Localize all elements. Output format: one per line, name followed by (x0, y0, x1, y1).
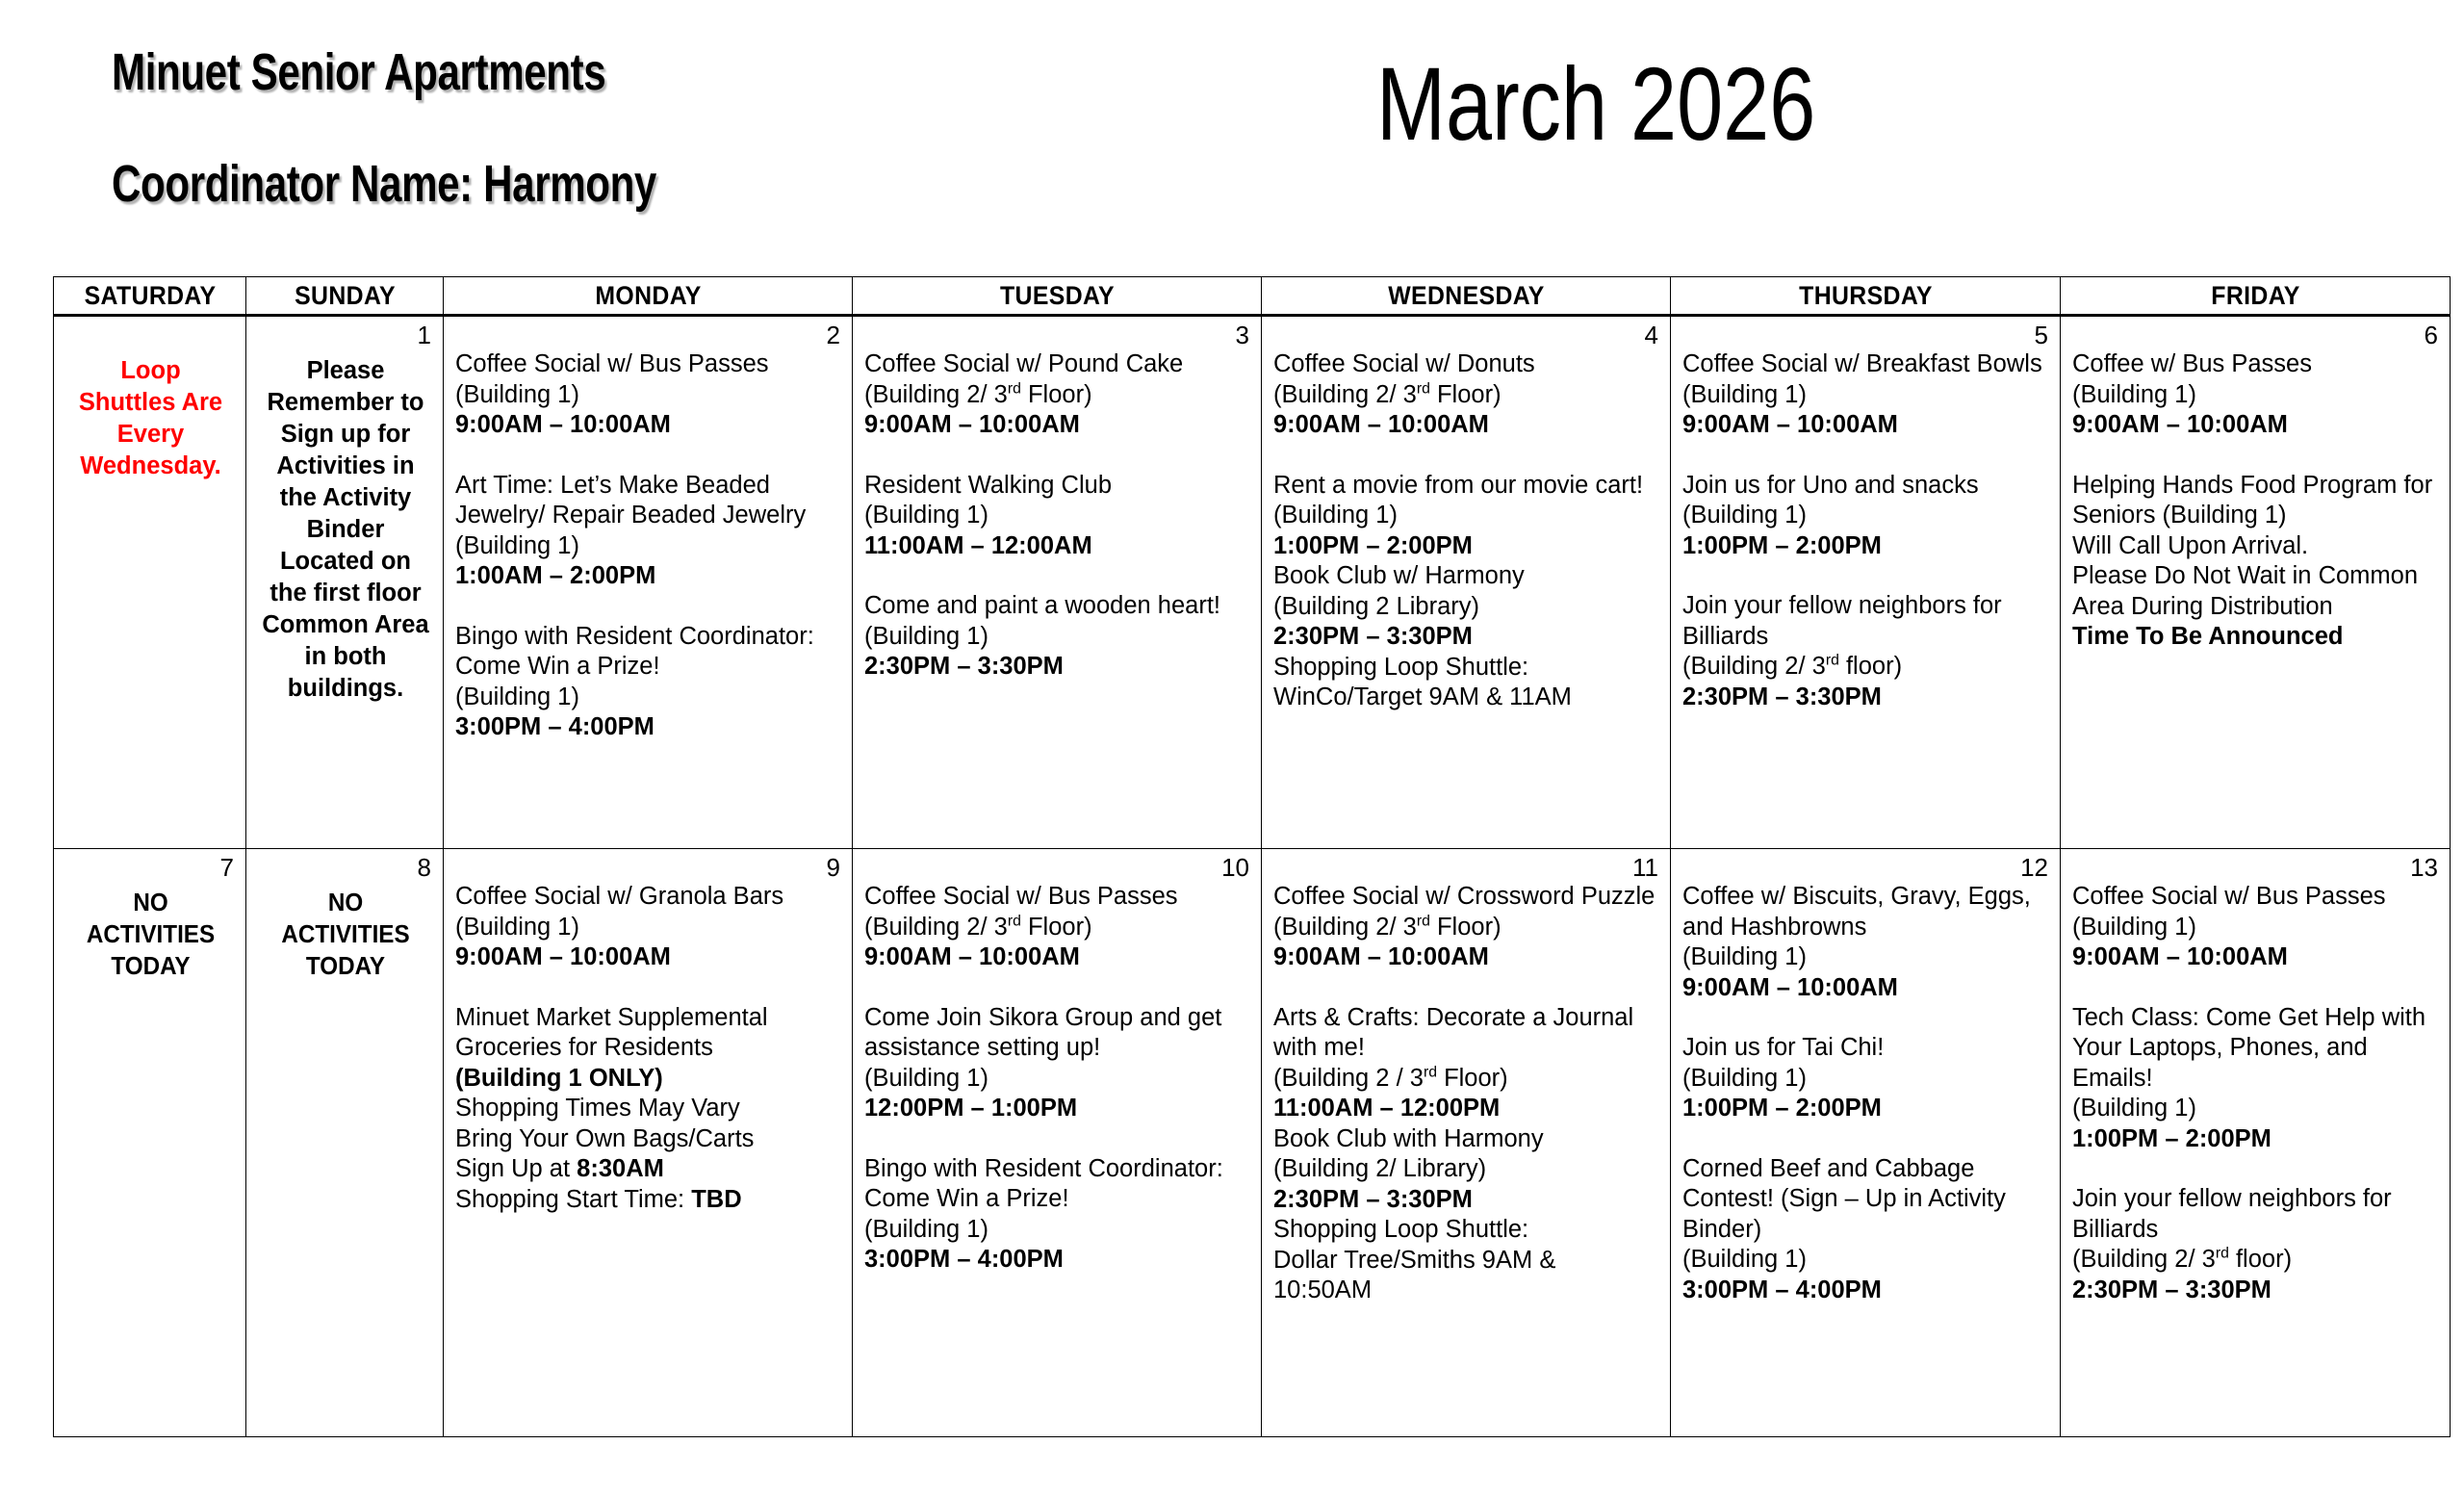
day-cell-content: 8NO ACTIVITIES TODAY (246, 849, 443, 991)
event-text: (Building 1) (2072, 380, 2440, 411)
day-cell[interactable]: 5Coffee Social w/ Breakfast Bowls(Buildi… (1671, 316, 2061, 849)
event-entry[interactable]: Coffee Social w/ Crossword Puzzle(Buildi… (1273, 882, 1660, 973)
event-time: Time To Be Announced (2072, 622, 2440, 653)
column-header-friday: FRIDAY (2076, 277, 2435, 316)
day-number: 3 (864, 321, 1251, 349)
event-entry[interactable]: Resident Walking Club(Building 1)11:00AM… (864, 471, 1251, 562)
event-text: (Building 1) (864, 622, 1251, 653)
event-text: (Building 2/ 3rd Floor) (864, 913, 1251, 943)
event-time: 11:00AM – 12:00PM (1273, 1094, 1660, 1124)
event-text: Coffee Social w/ Bus Passes (864, 882, 1251, 913)
day-cell[interactable]: 2Coffee Social w/ Bus Passes(Building 1)… (444, 316, 853, 849)
day-number: 13 (2072, 853, 2440, 882)
day-number: 5 (1682, 321, 2050, 349)
heading-block: Minuet Senior Apartments Coordinator Nam… (112, 42, 1170, 214)
event-text: Join us for Tai Chi! (1682, 1033, 2050, 1064)
event-time: 3:00PM – 4:00PM (455, 712, 842, 743)
event-entry[interactable]: Bingo with Resident Coordinator: Come Wi… (864, 1154, 1251, 1276)
event-text: (Building 2/ 3rd Floor) (1273, 380, 1660, 411)
events-list: Coffee Social w/ Bus Passes(Building 1)9… (455, 349, 842, 743)
event-text: Join your fellow neighbors for Billiards (2072, 1184, 2440, 1245)
event-text: (Building 1) (455, 531, 842, 562)
event-entry[interactable]: Corned Beef and Cabbage Contest! (Sign –… (1682, 1154, 2050, 1306)
event-text: (Building 1) (455, 380, 842, 411)
column-header-thursday: THURSDAY (1686, 277, 2045, 316)
event-text: Minuet Market Supplemental Groceries for… (455, 1003, 842, 1064)
event-time: 1:00PM – 2:00PM (1682, 1094, 2050, 1124)
event-time: 9:00AM – 10:00AM (1682, 973, 2050, 1004)
event-text: Shopping Loop Shuttle: (1273, 1215, 1660, 1246)
events-list: Coffee Social w/ Crossword Puzzle(Buildi… (1273, 882, 1660, 1306)
event-entry[interactable]: Coffee w/ Bus Passes(Building 1)9:00AM –… (2072, 349, 2440, 441)
day-cell[interactable]: 3Coffee Social w/ Pound Cake(Building 2/… (853, 316, 1262, 849)
day-number: 12 (1682, 853, 2050, 882)
event-text: Bingo with Resident Coordinator: Come Wi… (455, 622, 842, 683)
event-entry[interactable]: Bingo with Resident Coordinator: Come Wi… (455, 622, 842, 743)
event-time: 9:00AM – 10:00AM (1682, 410, 2050, 441)
day-cell[interactable]: 10Coffee Social w/ Bus Passes(Building 2… (853, 849, 1262, 1437)
event-time: 9:00AM – 10:00AM (2072, 942, 2440, 973)
event-time: 9:00AM – 10:00AM (2072, 410, 2440, 441)
day-cell[interactable]: 9Coffee Social w/ Granola Bars(Building … (444, 849, 853, 1437)
event-time: 1:00AM – 2:00PM (455, 561, 842, 592)
event-text: (Building 2 Library) (1273, 592, 1660, 623)
event-text: Will Call Upon Arrival. (2072, 531, 2440, 562)
event-time: 3:00PM – 4:00PM (1682, 1276, 2050, 1306)
column-header-tuesday: TUESDAY (869, 277, 1245, 316)
day-number (65, 321, 236, 349)
event-text: Coffee Social w/ Bus Passes (455, 349, 842, 380)
day-cell-content: 11Coffee Social w/ Crossword Puzzle(Buil… (1262, 849, 1670, 1314)
event-time: 2:30PM – 3:30PM (1682, 683, 2050, 713)
event-text: (Building 1) (2072, 1094, 2440, 1124)
event-text: (Building 1) (455, 683, 842, 713)
day-number: 9 (455, 853, 842, 882)
event-entry[interactable]: Join your fellow neighbors for Billiards… (1682, 591, 2050, 712)
event-entry[interactable]: Coffee Social w/ Bus Passes(Building 1)9… (455, 349, 842, 441)
event-time: 2:30PM – 3:30PM (2072, 1276, 2440, 1306)
day-number: 1 (258, 321, 433, 349)
event-entry[interactable]: Book Club with Harmony(Building 2/ Libra… (1273, 1124, 1660, 1216)
day-cell[interactable]: Loop Shuttles Are Every Wednesday. (54, 316, 246, 849)
column-header-sunday: SUNDAY (254, 277, 436, 316)
event-text: Dollar Tree/Smiths 9AM & 10:50AM (1273, 1246, 1660, 1306)
day-cell[interactable]: 11Coffee Social w/ Crossword Puzzle(Buil… (1262, 849, 1671, 1437)
event-text: Sign Up at 8:30AM (455, 1154, 842, 1185)
event-time: 12:00PM – 1:00PM (864, 1094, 1251, 1124)
month-year-title: March 2026 (1376, 50, 1815, 158)
event-entry[interactable]: Coffee Social w/ Donuts(Building 2/ 3rd … (1273, 349, 1660, 441)
day-number: 8 (258, 853, 433, 882)
day-cell-content: 6Coffee w/ Bus Passes(Building 1)9:00AM … (2061, 317, 2450, 660)
day-cell-content: 3Coffee Social w/ Pound Cake(Building 2/… (853, 317, 1261, 690)
day-notice-text: Loop Shuttles Are Every Wednesday. (65, 355, 236, 482)
event-time: 1:00PM – 2:00PM (1682, 531, 2050, 562)
event-text: Join us for Uno and snacks (1682, 471, 2050, 502)
day-notice-text: NO ACTIVITIES TODAY (69, 888, 231, 983)
event-time: 9:00AM – 10:00AM (864, 942, 1251, 973)
event-time: 2:30PM – 3:30PM (864, 652, 1251, 683)
event-text: Come Join Sikora Group and get assistanc… (864, 1003, 1251, 1064)
event-text: Rent a movie from our movie cart! (1273, 471, 1660, 502)
event-text: (Building 1) (1682, 1245, 2050, 1276)
day-notice-text: Please Remember to Sign up for Activitie… (258, 355, 433, 705)
day-cell[interactable]: 13Coffee Social w/ Bus Passes(Building 1… (2061, 849, 2451, 1437)
event-text: Coffee w/ Biscuits, Gravy, Eggs, and Has… (1682, 882, 2050, 942)
event-entry[interactable]: Join your fellow neighbors for Billiards… (2072, 1184, 2440, 1305)
event-entry[interactable]: Shopping Loop Shuttle:WinCo/Target 9AM &… (1273, 653, 1660, 713)
event-entry[interactable]: Arts & Crafts: Decorate a Journal with m… (1273, 1003, 1660, 1124)
day-cell[interactable]: 8NO ACTIVITIES TODAY (246, 849, 444, 1437)
event-text: WinCo/Target 9AM & 11AM (1273, 683, 1660, 713)
calendar-table-wrapper: SATURDAYSUNDAYMONDAYTUESDAYWEDNESDAYTHUR… (53, 276, 2450, 1437)
event-text: Shopping Loop Shuttle: (1273, 653, 1660, 684)
event-time: 3:00PM – 4:00PM (864, 1245, 1251, 1276)
column-header-monday: MONDAY (460, 277, 836, 316)
event-entry[interactable]: Come and paint a wooden heart!(Building … (864, 591, 1251, 683)
day-cell-content: 4Coffee Social w/ Donuts(Building 2/ 3rd… (1262, 317, 1670, 721)
event-text: (Building 2/ 3rd floor) (2072, 1245, 2440, 1276)
event-text: (Building 1) (1682, 942, 2050, 973)
event-text: Coffee Social w/ Pound Cake (864, 349, 1251, 380)
event-text: Book Club w/ Harmony (1273, 561, 1660, 592)
day-number: 2 (455, 321, 842, 349)
day-number: 10 (864, 853, 1251, 882)
day-cell-content: 1Please Remember to Sign up for Activiti… (246, 317, 443, 712)
day-cell[interactable]: 4Coffee Social w/ Donuts(Building 2/ 3rd… (1262, 316, 1671, 849)
day-cell-content: 10Coffee Social w/ Bus Passes(Building 2… (853, 849, 1261, 1283)
event-entry[interactable]: Coffee Social w/ Pound Cake(Building 2/ … (864, 349, 1251, 441)
event-text: Bring Your Own Bags/Carts (455, 1124, 842, 1155)
organization-title: Minuet Senior Apartments (112, 42, 937, 102)
event-text: (Building 2/ 3rd floor) (1682, 652, 2050, 683)
event-text: (Building 2/ 3rd Floor) (1273, 913, 1660, 943)
event-text: (Building 1) (864, 1215, 1251, 1246)
event-text: (Building 1) (2072, 913, 2440, 943)
events-list: Coffee w/ Biscuits, Gravy, Eggs, and Has… (1682, 882, 2050, 1305)
event-time: 9:00AM – 10:00AM (455, 410, 842, 441)
events-list: Coffee Social w/ Granola Bars(Building 1… (455, 882, 842, 1215)
day-cell-content: 2Coffee Social w/ Bus Passes(Building 1)… (444, 317, 852, 751)
event-time: 9:00AM – 10:00AM (1273, 410, 1660, 441)
event-text: (Building 1) (864, 1064, 1251, 1095)
event-text: (Building 2 / 3rd Floor) (1273, 1064, 1660, 1095)
event-entry[interactable]: Coffee Social w/ Bus Passes(Building 1)9… (2072, 882, 2440, 973)
event-time: 9:00AM – 10:00AM (864, 410, 1251, 441)
event-text: Please Do Not Wait in Common Area During… (2072, 561, 2440, 622)
event-time: (Building 1 ONLY) (455, 1064, 842, 1095)
day-number: 6 (2072, 321, 2440, 349)
event-text: (Building 1) (1682, 380, 2050, 411)
calendar-header-row: SATURDAYSUNDAYMONDAYTUESDAYWEDNESDAYTHUR… (54, 277, 2451, 316)
event-text: Bingo with Resident Coordinator: Come Wi… (864, 1154, 1251, 1215)
events-list: Coffee Social w/ Donuts(Building 2/ 3rd … (1273, 349, 1660, 713)
day-number: 4 (1273, 321, 1660, 349)
coordinator-name-line: Coordinator Name: Harmony (112, 154, 937, 214)
event-entry[interactable]: Join us for Uno and snacks(Building 1)1:… (1682, 471, 2050, 562)
event-text: Art Time: Let’s Make Beaded Jewelry/ Rep… (455, 471, 842, 531)
event-entry[interactable]: Tech Class: Come Get Help with Your Lapt… (2072, 1003, 2440, 1155)
events-list: Coffee w/ Bus Passes(Building 1)9:00AM –… (2072, 349, 2440, 653)
event-text: (Building 1) (1682, 501, 2050, 531)
event-entry[interactable]: Art Time: Let’s Make Beaded Jewelry/ Rep… (455, 471, 842, 592)
events-list: Coffee Social w/ Bus Passes(Building 2/ … (864, 882, 1251, 1276)
event-text: Shopping Start Time: TBD (455, 1185, 842, 1216)
event-time: 9:00AM – 10:00AM (1273, 942, 1660, 973)
event-text: Come and paint a wooden heart! (864, 591, 1251, 622)
event-entry[interactable]: Rent a movie from our movie cart!(Buildi… (1273, 471, 1660, 562)
event-time: 9:00AM – 10:00AM (455, 942, 842, 973)
event-entry[interactable]: Join us for Tai Chi!(Building 1)1:00PM –… (1682, 1033, 2050, 1124)
calendar-table: SATURDAYSUNDAYMONDAYTUESDAYWEDNESDAYTHUR… (53, 276, 2451, 1437)
events-list: Coffee Social w/ Breakfast Bowls(Buildin… (1682, 349, 2050, 712)
day-number: 11 (1273, 853, 1660, 882)
events-list: Coffee Social w/ Pound Cake(Building 2/ … (864, 349, 1251, 683)
event-text: (Building 1) (1682, 1064, 2050, 1095)
event-text: Resident Walking Club (864, 471, 1251, 502)
event-time: 2:30PM – 3:30PM (1273, 1185, 1660, 1216)
event-text: (Building 2/ Library) (1273, 1154, 1660, 1185)
event-entry[interactable]: Coffee w/ Biscuits, Gravy, Eggs, and Has… (1682, 882, 2050, 1003)
day-number: 7 (65, 853, 236, 882)
event-time: 11:00AM – 12:00AM (864, 531, 1251, 562)
event-entry[interactable]: Shopping Loop Shuttle:Dollar Tree/Smiths… (1273, 1215, 1660, 1306)
day-cell[interactable]: 1Please Remember to Sign up for Activiti… (246, 316, 444, 849)
event-text: Join your fellow neighbors for Billiards (1682, 591, 2050, 652)
event-text: Coffee Social w/ Crossword Puzzle (1273, 882, 1660, 913)
event-text: Book Club with Harmony (1273, 1124, 1660, 1155)
event-text: (Building 1) (455, 913, 842, 943)
column-header-saturday: SATURDAY (62, 277, 239, 316)
day-cell-content: 7NO ACTIVITIES TODAY (54, 849, 245, 991)
day-cell-content: 12Coffee w/ Biscuits, Gravy, Eggs, and H… (1671, 849, 2060, 1313)
event-text: Tech Class: Come Get Help with Your Lapt… (2072, 1003, 2440, 1095)
event-time: 1:00PM – 2:00PM (1273, 531, 1660, 562)
event-text: Shopping Times May Vary (455, 1094, 842, 1124)
event-text: Coffee w/ Bus Passes (2072, 349, 2440, 380)
event-entry[interactable]: Coffee Social w/ Granola Bars(Building 1… (455, 882, 842, 973)
day-cell[interactable]: 7NO ACTIVITIES TODAY (54, 849, 246, 1437)
event-entry[interactable]: Coffee Social w/ Bus Passes(Building 2/ … (864, 882, 1251, 973)
column-header-wednesday: WEDNESDAY (1278, 277, 1655, 316)
day-cell-content: Loop Shuttles Are Every Wednesday. (54, 317, 245, 490)
event-text: (Building 1) (1273, 501, 1660, 531)
event-text: Coffee Social w/ Donuts (1273, 349, 1660, 380)
day-notice-text: NO ACTIVITIES TODAY (263, 888, 429, 983)
day-cell[interactable]: 12Coffee w/ Biscuits, Gravy, Eggs, and H… (1671, 849, 2061, 1437)
event-entry[interactable]: Book Club w/ Harmony(Building 2 Library)… (1273, 561, 1660, 653)
calendar-week-row: Loop Shuttles Are Every Wednesday.1Pleas… (54, 316, 2451, 849)
calendar-page: Minuet Senior Apartments Coordinator Nam… (0, 0, 2464, 1496)
day-cell-content: 9Coffee Social w/ Granola Bars(Building … (444, 849, 852, 1223)
calendar-week-row: 7NO ACTIVITIES TODAY8NO ACTIVITIES TODAY… (54, 849, 2451, 1437)
event-time: 1:00PM – 2:00PM (2072, 1124, 2440, 1155)
events-list: Coffee Social w/ Bus Passes(Building 1)9… (2072, 882, 2440, 1305)
event-text: Arts & Crafts: Decorate a Journal with m… (1273, 1003, 1660, 1064)
day-cell[interactable]: 6Coffee w/ Bus Passes(Building 1)9:00AM … (2061, 316, 2451, 849)
event-text: Coffee Social w/ Bus Passes (2072, 882, 2440, 913)
event-text: Helping Hands Food Program for Seniors (… (2072, 471, 2440, 531)
event-entry[interactable]: Minuet Market Supplemental Groceries for… (455, 1003, 842, 1216)
event-text: Coffee Social w/ Granola Bars (455, 882, 842, 913)
event-time: 2:30PM – 3:30PM (1273, 622, 1660, 653)
event-entry[interactable]: Coffee Social w/ Breakfast Bowls(Buildin… (1682, 349, 2050, 441)
event-text: Corned Beef and Cabbage Contest! (Sign –… (1682, 1154, 2050, 1246)
day-cell-content: 5Coffee Social w/ Breakfast Bowls(Buildi… (1671, 317, 2060, 720)
day-cell-content: 13Coffee Social w/ Bus Passes(Building 1… (2061, 849, 2450, 1313)
event-text: Coffee Social w/ Breakfast Bowls (1682, 349, 2050, 380)
event-text: (Building 1) (864, 501, 1251, 531)
event-entry[interactable]: Come Join Sikora Group and get assistanc… (864, 1003, 1251, 1124)
event-text: (Building 2/ 3rd Floor) (864, 380, 1251, 411)
event-entry[interactable]: Helping Hands Food Program for Seniors (… (2072, 471, 2440, 653)
